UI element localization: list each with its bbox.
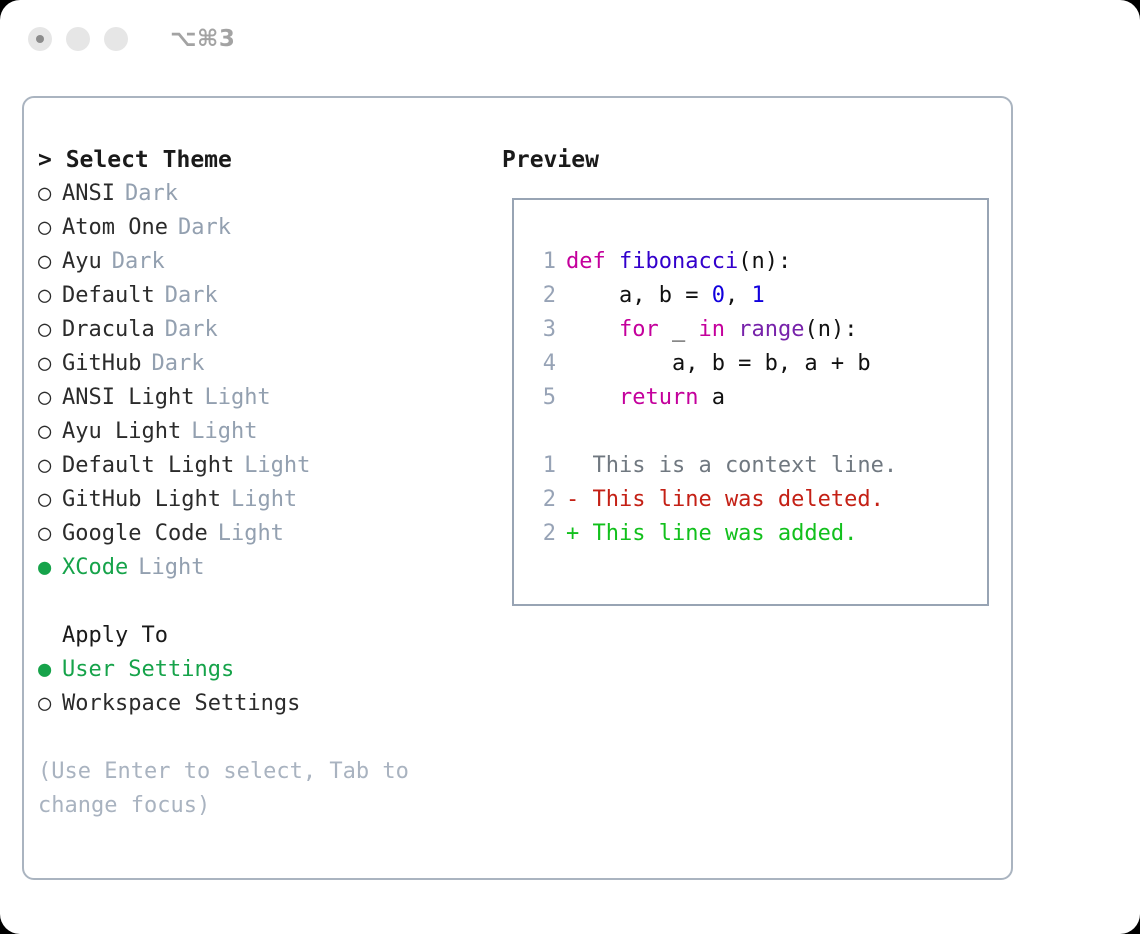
theme-variant-tag: Dark <box>151 347 204 381</box>
theme-name-label: Ayu <box>62 245 102 279</box>
apply-to-option-label: User Settings <box>62 653 234 687</box>
app-window: ⌥⌘3 > Select Theme ○ANSIDark○Atom OneDar… <box>0 0 1140 934</box>
code-token: def <box>566 249 606 274</box>
window-control-dot-1[interactable] <box>28 27 52 51</box>
diff-line: 1 This is a context line. <box>528 449 981 483</box>
theme-name-label: ANSI Light <box>62 381 194 415</box>
theme-variant-tag: Light <box>218 517 284 551</box>
radio-unselected-icon: ○ <box>38 347 62 381</box>
code-line-content: return a <box>566 381 725 415</box>
apply-to-option-label: Workspace Settings <box>62 687 300 721</box>
radio-unselected-icon: ○ <box>38 483 62 517</box>
theme-selector-column: > Select Theme ○ANSIDark○Atom OneDark○Ay… <box>38 143 498 823</box>
radio-unselected-icon: ○ <box>38 687 62 721</box>
theme-list-item[interactable]: ○ANSIDark <box>38 177 498 211</box>
theme-list-item[interactable]: ○Default LightLight <box>38 449 498 483</box>
radio-unselected-icon: ○ <box>38 517 62 551</box>
code-token: (n): <box>738 249 791 274</box>
code-token: (n): <box>804 317 857 342</box>
theme-list[interactable]: ○ANSIDark○Atom OneDark○AyuDark○DefaultDa… <box>38 177 498 585</box>
radio-selected-icon: ● <box>38 653 62 687</box>
theme-variant-tag: Light <box>231 483 297 517</box>
radio-unselected-icon: ○ <box>38 381 62 415</box>
radio-unselected-icon: ○ <box>38 211 62 245</box>
main-panel: > Select Theme ○ANSIDark○Atom OneDark○Ay… <box>22 96 1013 880</box>
diff-line-content: - This line was deleted. <box>566 483 884 517</box>
code-token: , <box>725 283 752 308</box>
theme-name-label: Ayu Light <box>62 415 181 449</box>
diff-line-number: 2 <box>528 483 556 517</box>
diff-line-content: + This line was added. <box>566 517 857 551</box>
code-line: 1def fibonacci(n): <box>528 245 981 279</box>
radio-unselected-icon: ○ <box>38 415 62 449</box>
theme-variant-tag: Light <box>138 551 204 585</box>
theme-list-item[interactable]: ○GitHubDark <box>38 347 498 381</box>
theme-name-label: Default Light <box>62 449 234 483</box>
theme-list-item[interactable]: ○DefaultDark <box>38 279 498 313</box>
theme-list-item[interactable]: ○DraculaDark <box>38 313 498 347</box>
code-line-number: 4 <box>528 347 556 381</box>
theme-variant-tag: Dark <box>165 279 218 313</box>
code-token: fibonacci <box>619 249 738 274</box>
theme-variant-tag: Light <box>244 449 310 483</box>
active-dot-indicator <box>36 35 44 43</box>
code-token <box>606 249 619 274</box>
theme-name-label: XCode <box>62 551 128 585</box>
code-token: for <box>619 317 659 342</box>
code-line-content: a, b = 0, 1 <box>566 279 765 313</box>
diff-line-number: 1 <box>528 449 556 483</box>
code-line-number: 3 <box>528 313 556 347</box>
code-token: return <box>619 385 698 410</box>
keyboard-hint-text: (Use Enter to select, Tab to change focu… <box>38 755 458 823</box>
code-sample: 1def fibonacci(n):2 a, b = 0, 13 for _ i… <box>528 245 981 415</box>
apply-to-option[interactable]: ○Workspace Settings <box>38 687 498 721</box>
code-line: 2 a, b = 0, 1 <box>528 279 981 313</box>
theme-name-label: Default <box>62 279 155 313</box>
theme-variant-tag: Dark <box>178 211 231 245</box>
theme-list-item[interactable]: ○AyuDark <box>38 245 498 279</box>
theme-list-item[interactable]: ○Ayu LightLight <box>38 415 498 449</box>
diff-line: 2- This line was deleted. <box>528 483 981 517</box>
radio-unselected-icon: ○ <box>38 449 62 483</box>
code-token <box>566 317 619 342</box>
radio-unselected-icon: ○ <box>38 279 62 313</box>
theme-list-item[interactable]: ○GitHub LightLight <box>38 483 498 517</box>
code-token <box>566 385 619 410</box>
code-token: in <box>698 317 725 342</box>
diff-line-number: 2 <box>528 517 556 551</box>
code-line-number: 2 <box>528 279 556 313</box>
code-line-content: def fibonacci(n): <box>566 245 791 279</box>
theme-variant-tag: Light <box>204 381 270 415</box>
code-line: 5 return a <box>528 381 981 415</box>
theme-list-item[interactable]: ○Google CodeLight <box>38 517 498 551</box>
preview-column: Preview 1def fibonacci(n):2 a, b = 0, 13… <box>502 143 1002 606</box>
code-token: a, b = b, a + b <box>566 351 871 376</box>
diff-sample: 1 This is a context line.2- This line wa… <box>528 449 981 551</box>
theme-name-label: GitHub <box>62 347 141 381</box>
code-line: 3 for _ in range(n): <box>528 313 981 347</box>
code-line-content: for _ in range(n): <box>566 313 857 347</box>
theme-name-label: GitHub Light <box>62 483 221 517</box>
code-line-content: a, b = b, a + b <box>566 347 871 381</box>
apply-to-option[interactable]: ●User Settings <box>38 653 498 687</box>
theme-list-item[interactable]: ●XCodeLight <box>38 551 498 585</box>
code-token: 0 <box>712 283 725 308</box>
code-line-number: 5 <box>528 381 556 415</box>
code-token: 1 <box>751 283 764 308</box>
radio-unselected-icon: ○ <box>38 245 62 279</box>
apply-to-section: Apply To ●User Settings○Workspace Settin… <box>38 619 498 721</box>
theme-name-label: Dracula <box>62 313 155 347</box>
theme-variant-tag: Dark <box>165 313 218 347</box>
theme-variant-tag: Light <box>191 415 257 449</box>
code-token: _ <box>659 317 699 342</box>
radio-unselected-icon: ○ <box>38 313 62 347</box>
code-line-number: 1 <box>528 245 556 279</box>
apply-to-options[interactable]: ●User Settings○Workspace Settings <box>38 653 498 721</box>
theme-variant-tag: Dark <box>112 245 165 279</box>
preview-box: 1def fibonacci(n):2 a, b = 0, 13 for _ i… <box>512 198 989 606</box>
keyboard-shortcut-label: ⌥⌘3 <box>170 26 235 52</box>
code-token: a <box>698 385 725 410</box>
code-line: 4 a, b = b, a + b <box>528 347 981 381</box>
theme-variant-tag: Dark <box>125 177 178 211</box>
theme-name-label: Google Code <box>62 517 208 551</box>
code-preview-area: 1def fibonacci(n):2 a, b = 0, 13 for _ i… <box>528 245 981 551</box>
window-control-dot-2[interactable] <box>66 27 90 51</box>
radio-unselected-icon: ○ <box>38 177 62 211</box>
diff-line-content: This is a context line. <box>566 449 897 483</box>
theme-list-item[interactable]: ○ANSI LightLight <box>38 381 498 415</box>
title-bar: ⌥⌘3 <box>0 0 1140 78</box>
window-control-dot-3[interactable] <box>104 27 128 51</box>
theme-name-label: ANSI <box>62 177 115 211</box>
window-controls <box>28 27 128 51</box>
radio-selected-icon: ● <box>38 551 62 585</box>
code-token <box>725 317 738 342</box>
code-token: a, b = <box>566 283 712 308</box>
select-theme-heading: > Select Theme <box>38 143 498 177</box>
preview-heading: Preview <box>502 143 1002 177</box>
apply-to-heading: Apply To <box>38 619 498 653</box>
theme-name-label: Atom One <box>62 211 168 245</box>
diff-line: 2+ This line was added. <box>528 517 981 551</box>
theme-list-item[interactable]: ○Atom OneDark <box>38 211 498 245</box>
code-token: range <box>738 317 804 342</box>
